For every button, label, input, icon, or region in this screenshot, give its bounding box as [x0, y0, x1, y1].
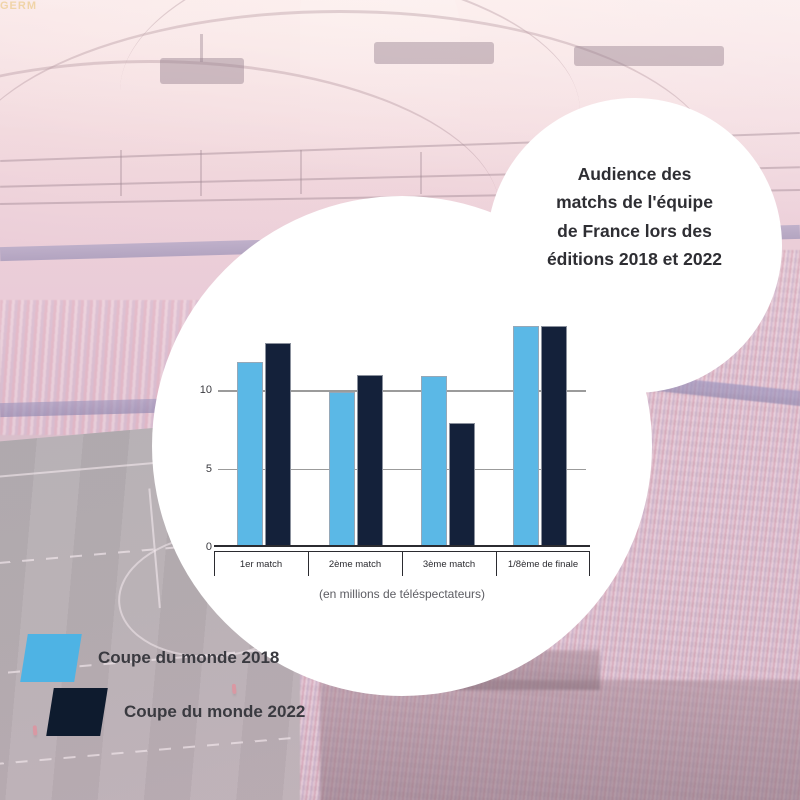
chart-y-tick-label: 5 — [206, 463, 212, 475]
legend-item-2022[interactable]: Coupe du monde 2022 — [50, 688, 305, 736]
legend-swatch-2018 — [20, 634, 82, 682]
chart-bar[interactable] — [449, 423, 475, 547]
chart-bar[interactable] — [513, 326, 539, 547]
title-line-3: de France lors des — [497, 217, 772, 245]
chart-bar[interactable] — [541, 326, 567, 547]
legend-swatch-2022 — [46, 688, 108, 736]
chart-bar[interactable] — [421, 376, 447, 547]
chart-y-tick-label: 10 — [200, 384, 212, 396]
title-line-1: Audience des — [497, 160, 772, 188]
chart-y-tick-label: 0 — [206, 541, 212, 553]
chart-bar[interactable] — [265, 343, 291, 547]
chart-bar-group — [218, 312, 310, 547]
infographic-canvas: GERM Audience des matchs de l'équipe de … — [0, 0, 800, 800]
chart-plot-area: 0510 — [218, 312, 586, 547]
title-line-4: éditions 2018 et 2022 — [497, 245, 772, 273]
bar-chart: 0510 — [218, 312, 586, 547]
title-line-2: matchs de l'équipe — [497, 188, 772, 216]
chart-bar[interactable] — [329, 392, 355, 547]
legend-label-2022: Coupe du monde 2022 — [124, 702, 305, 722]
chart-bar-group — [494, 312, 586, 547]
chart-bar-group — [310, 312, 402, 547]
chart-category-axis: 1er match2ème match3ème match1/8ème de f… — [214, 551, 590, 576]
chart-category-label: 2ème match — [308, 552, 402, 576]
chart-baseline — [214, 545, 590, 547]
chart-category-label: 1er match — [214, 552, 308, 576]
legend-label-2018: Coupe du monde 2018 — [98, 648, 279, 668]
chart-bar[interactable] — [237, 362, 263, 547]
chart-bar-group — [402, 312, 494, 547]
page-title: Audience des matchs de l'équipe de Franc… — [497, 160, 772, 273]
chart-category-label: 3ème match — [402, 552, 496, 576]
chart-category-label: 1/8ème de finale — [496, 552, 590, 576]
legend-item-2018[interactable]: Coupe du monde 2018 — [24, 634, 279, 682]
chart-bar[interactable] — [357, 375, 383, 547]
chart-unit-note: (en millions de téléspectateurs) — [152, 587, 652, 601]
